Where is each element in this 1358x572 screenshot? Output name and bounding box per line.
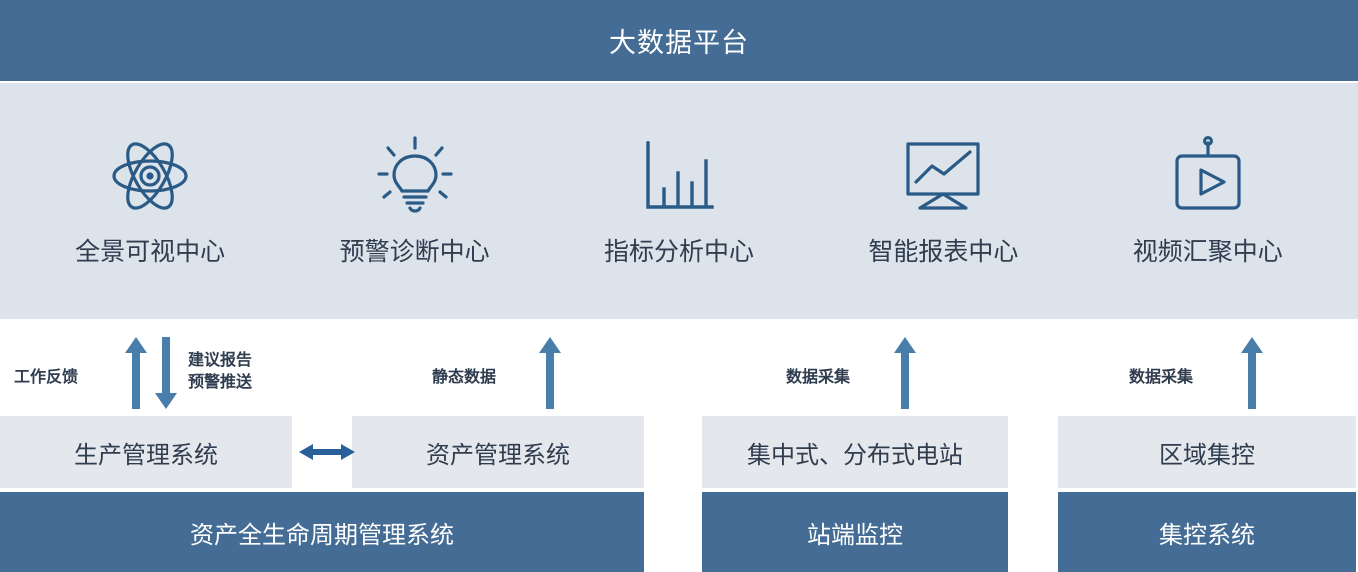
center-item-index-analysis[interactable]: 指标分析中心 bbox=[574, 134, 784, 268]
banner-title: 大数据平台 bbox=[609, 21, 749, 60]
arrow-up-work-feedback bbox=[124, 337, 148, 409]
bottom-box-asset-lifecycle[interactable]: 资产全生命周期管理系统 bbox=[0, 492, 644, 572]
center-item-video-aggregation[interactable]: 视频汇聚中心 bbox=[1103, 134, 1313, 268]
atom-icon bbox=[107, 134, 193, 218]
arrow-up-data-collection-2 bbox=[1240, 337, 1264, 409]
bottom-box-centralized-control[interactable]: 集控系统 bbox=[1058, 492, 1356, 572]
center-label: 指标分析中心 bbox=[604, 232, 754, 268]
flow-label-advice-report-line1: 建议报告 bbox=[188, 350, 252, 372]
diagram-canvas: 大数据平台 全景可视中心 bbox=[0, 0, 1358, 572]
system-box-regional-control[interactable]: 区域集控 bbox=[1058, 416, 1356, 488]
platform-banner: 大数据平台 bbox=[0, 0, 1358, 81]
double-arrow-icon bbox=[299, 440, 355, 464]
bottom-systems-row: 资产全生命周期管理系统 站端监控 集控系统 bbox=[0, 492, 1358, 572]
center-label: 预警诊断中心 bbox=[340, 232, 490, 268]
flow-arrows-band: 工作反馈 建议报告 预警推送 静态数据 数据采集 数据采集 bbox=[0, 319, 1358, 416]
center-item-smart-report[interactable]: 智能报表中心 bbox=[838, 134, 1048, 268]
flow-label-data-collection-2: 数据采集 bbox=[1129, 367, 1193, 389]
platform-centers-band: 全景可视中心 bbox=[0, 83, 1358, 319]
arrow-down-advice-report bbox=[154, 337, 178, 409]
arrow-up-data-collection-1 bbox=[893, 337, 917, 409]
arrow-up-static-data bbox=[538, 337, 562, 409]
lightbulb-icon bbox=[375, 134, 455, 218]
center-item-warning-diagnosis[interactable]: 预警诊断中心 bbox=[310, 134, 520, 268]
system-box-power-stations[interactable]: 集中式、分布式电站 bbox=[702, 416, 1008, 488]
presentation-chart-icon bbox=[900, 134, 986, 218]
flow-label-work-feedback: 工作反馈 bbox=[14, 367, 78, 389]
system-box-production-management[interactable]: 生产管理系统 bbox=[0, 416, 292, 488]
center-label: 全景可视中心 bbox=[75, 232, 225, 268]
system-box-asset-management[interactable]: 资产管理系统 bbox=[352, 416, 644, 488]
systems-row: 生产管理系统 资产管理系统 集中式、分布式电站 区域集控 bbox=[0, 416, 1358, 488]
bar-chart-icon bbox=[640, 134, 718, 218]
video-play-icon bbox=[1168, 134, 1248, 218]
flow-label-data-collection-1: 数据采集 bbox=[786, 367, 850, 389]
bottom-box-station-monitoring[interactable]: 站端监控 bbox=[702, 492, 1008, 572]
flow-label-static-data: 静态数据 bbox=[432, 367, 496, 389]
flow-label-advice-report: 建议报告 预警推送 bbox=[188, 350, 252, 394]
center-label: 智能报表中心 bbox=[868, 232, 1018, 268]
center-item-panorama[interactable]: 全景可视中心 bbox=[45, 134, 255, 268]
center-label: 视频汇聚中心 bbox=[1133, 232, 1283, 268]
flow-label-warning-push-line2: 预警推送 bbox=[188, 372, 252, 394]
